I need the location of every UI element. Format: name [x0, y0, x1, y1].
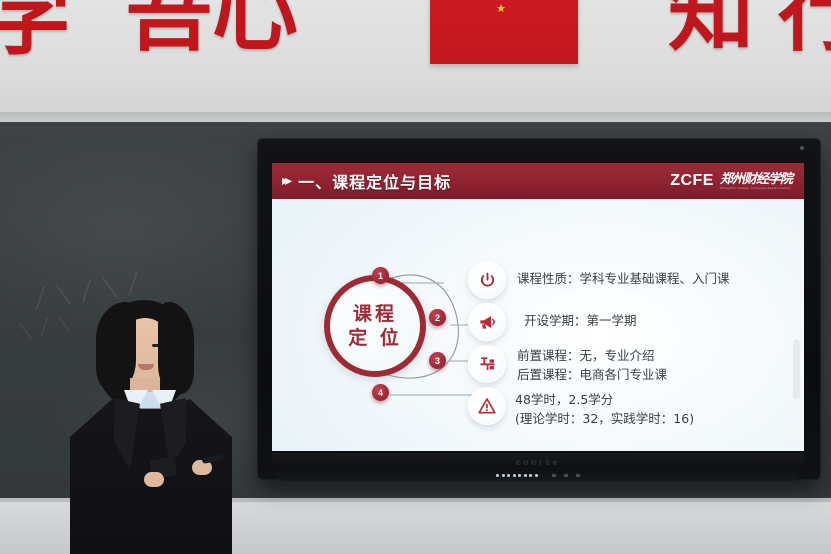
upper-wall: 学 吾 心 ★ 知 行 — [0, 0, 831, 122]
presenter-hand-left — [144, 472, 164, 487]
slide-title: 一、课程定位与目标 — [298, 169, 451, 193]
display-brand-label: conrse — [516, 458, 560, 467]
center-circle: 课程 定 位 — [324, 275, 426, 377]
power-icon-button[interactable] — [468, 261, 506, 299]
school-logo: ZCFE 郑州财经学院 Zhengzhou College of Finance… — [670, 172, 792, 190]
item-1-text: 课程性质：学科专业基础课程、入门课 — [517, 270, 730, 289]
camera-icon — [800, 146, 804, 150]
banner-char-2: 吾 — [126, 0, 210, 56]
banner-char-4: 知 — [668, 0, 752, 56]
classroom-scene: 学 吾 心 ★ 知 行 ╱ ╲ ╱ ╲ ╱ ╲ ╱ ╲ ▸▸ 一、课程定位与目标… — [0, 0, 831, 554]
presenter-hair-right — [158, 302, 194, 394]
presenter — [62, 300, 252, 554]
presenter-hair-left — [96, 302, 136, 390]
node-4[interactable]: 4 — [372, 384, 389, 401]
double-right-arrow-icon: ▸▸ — [282, 173, 288, 189]
node-2[interactable]: 2 — [429, 309, 446, 326]
center-line-1: 课程 — [353, 302, 397, 326]
item-3-text: 前置课程：无，专业介绍 后置课程：电商各门专业课 — [517, 347, 667, 385]
warning-triangle-icon — [477, 396, 497, 416]
power-icon — [478, 271, 497, 290]
display-screen[interactable]: ▸▸ 一、课程定位与目标 ZCFE 郑州财经学院 Zhengzhou Colle… — [272, 163, 804, 451]
banner-char-5: 行 — [778, 0, 831, 56]
presentation-slide: ▸▸ 一、课程定位与目标 ZCFE 郑州财经学院 Zhengzhou Colle… — [272, 163, 804, 451]
node-1[interactable]: 1 — [372, 267, 389, 284]
slide-body: 课程 定 位 1 2 3 4 — [272, 199, 804, 451]
logo-latin: ZCFE — [670, 172, 714, 190]
flow-branch-icon-button[interactable] — [468, 345, 506, 383]
flag-star-icon: ★ — [496, 4, 506, 15]
control-buttons[interactable] — [552, 474, 580, 477]
slide-header: ▸▸ 一、课程定位与目标 ZCFE 郑州财经学院 Zhengzhou Colle… — [272, 163, 804, 199]
item-2-text: 开设学期：第一学期 — [524, 312, 637, 331]
led-indicator-row — [496, 474, 538, 477]
flow-branch-icon — [478, 355, 497, 374]
banner-char-1: 学 — [0, 0, 68, 60]
smart-display[interactable]: ▸▸ 一、课程定位与目标 ZCFE 郑州财经学院 Zhengzhou Colle… — [258, 139, 820, 479]
center-line-2: 定 位 — [348, 326, 402, 350]
item-3-line-2: 后置课程：电商各门专业课 — [517, 366, 667, 385]
warning-triangle-icon-button[interactable] — [468, 387, 506, 425]
item-3-line-1: 前置课程：无，专业介绍 — [517, 347, 667, 366]
logo-chinese: 郑州财经学院 — [720, 173, 792, 186]
display-control-bar[interactable] — [276, 469, 800, 481]
megaphone-icon — [477, 312, 497, 332]
banner-char-3: 心 — [212, 0, 296, 56]
megaphone-icon-button[interactable] — [468, 303, 506, 341]
item-4-line-2: (理论学时：32，实践学时：16) — [515, 410, 694, 429]
node-3[interactable]: 3 — [429, 352, 446, 369]
item-4-line-1: 48学时，2.5学分 — [515, 391, 694, 410]
chinese-flag: ★ — [430, 0, 578, 64]
slide-scrollbar[interactable] — [793, 339, 800, 399]
logo-english: Zhengzhou College of Finance and Economi… — [720, 187, 792, 190]
item-4-text: 48学时，2.5学分 (理论学时：32，实践学时：16) — [515, 391, 694, 429]
